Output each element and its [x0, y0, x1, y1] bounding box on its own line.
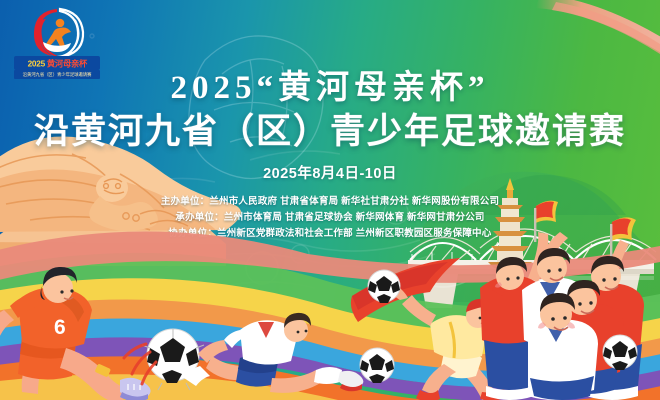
football-center: [360, 348, 394, 383]
organizer-line-coorganizer: 协办单位：兰州新区党群政法和社会工作部 兰州新区职教园区服务保障中心: [169, 225, 492, 239]
jersey-number-6: 6: [54, 316, 66, 339]
logo-emblem-icon: [30, 6, 86, 58]
event-date: 2025年8月4日-10日: [0, 162, 660, 183]
logo-wordmark: 2025 黄河母亲杯: [14, 56, 100, 70]
jersey-number-18: 18: [545, 349, 564, 368]
organizer-line-undertaker: 承办单位：兰州市体育局 甘肃省足球协会 新华网体育 新华网甘肃分公司: [175, 209, 484, 223]
page-subtitle: 沿黄河九省（区）青少年足球邀请赛: [0, 114, 660, 149]
page-title: 2025“黄河母亲杯”: [0, 72, 660, 105]
football-held: [603, 335, 637, 370]
event-poster: 2025 黄河母亲杯 沿黄河九省（区）青少年足球邀请赛 2025“黄河母亲杯” …: [0, 0, 660, 400]
organizer-list: 主办单位：兰州市人民政府 甘肃省体育局 新华社甘肃分社 新华网股份有限公司 承办…: [0, 193, 660, 239]
headline-block: 2025“黄河母亲杯” 沿黄河九省（区）青少年足球邀请赛 2025年8月4日-1…: [0, 72, 660, 239]
organizer-line-host: 主办单位：兰州市人民政府 甘肃省体育局 新华社甘肃分社 新华网股份有限公司: [161, 193, 499, 207]
football-goalkeeper: [368, 270, 400, 303]
